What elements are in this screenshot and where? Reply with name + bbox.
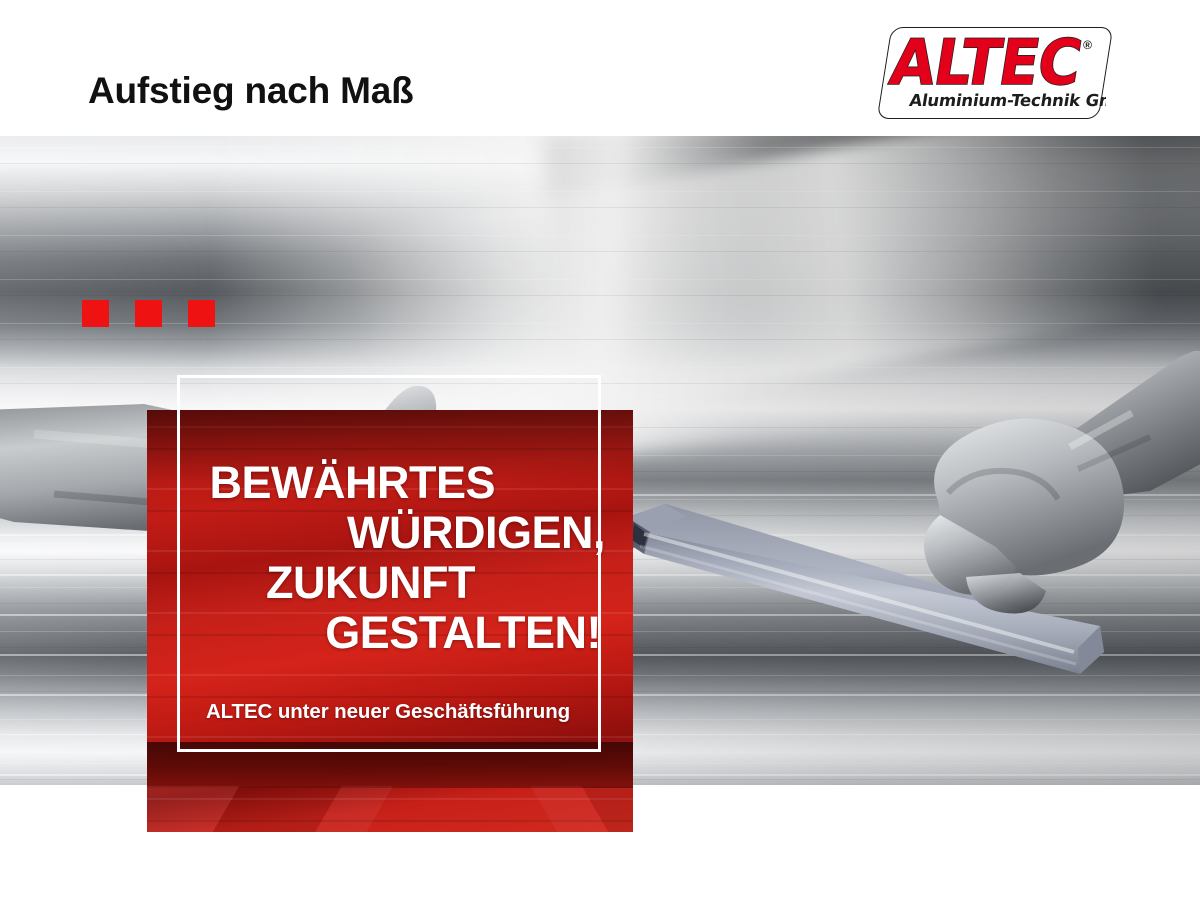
page-title: Aufstieg nach Maß	[88, 70, 414, 112]
logo-wordmark: ALTEC	[886, 31, 1086, 94]
panel-subline: ALTEC unter neuer Geschäftsführung	[169, 700, 607, 724]
logo-content: ALTEC ® Aluminium-Technik GmbH	[884, 27, 1106, 119]
header-bar: Aufstieg nach Maß ALTEC ® Aluminium-Tech…	[0, 0, 1200, 136]
panel-headline: BEWÄHRTES WÜRDIGEN, ZUKUNFT GESTALTEN!	[169, 458, 607, 658]
slide-canvas: Aufstieg nach Maß ALTEC ® Aluminium-Tech…	[0, 0, 1200, 899]
accent-square	[135, 300, 162, 327]
accent-square	[188, 300, 215, 327]
accent-square	[82, 300, 109, 327]
registered-trademark-icon: ®	[1083, 38, 1092, 52]
headline-line-1: BEWÄHRTES	[169, 458, 495, 508]
headline-line-4: GESTALTEN!	[169, 608, 601, 658]
gripping-hand-illustration	[820, 351, 1200, 671]
headline-line-3: ZUKUNFT	[169, 558, 475, 608]
logo-subtitle: Aluminium-Technik GmbH	[908, 91, 1106, 110]
message-panel: BEWÄHRTES WÜRDIGEN, ZUKUNFT GESTALTEN! A…	[147, 410, 633, 832]
panel-dark-band	[147, 742, 633, 788]
headline-line-2: WÜRDIGEN,	[169, 508, 605, 558]
panel-facets	[147, 786, 633, 832]
altec-logo[interactable]: ALTEC ® Aluminium-Technik GmbH	[884, 27, 1106, 119]
accent-squares	[82, 300, 215, 327]
